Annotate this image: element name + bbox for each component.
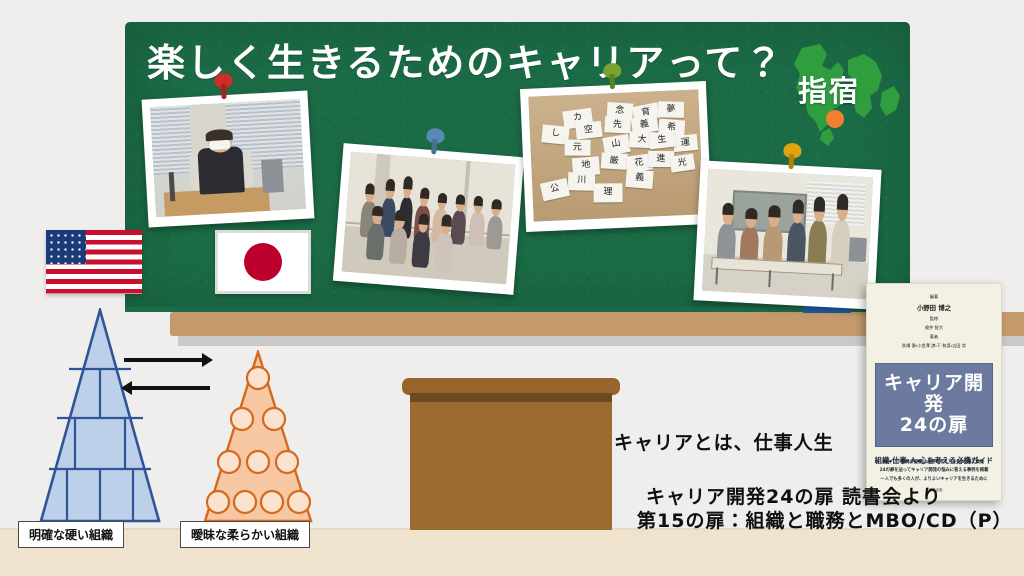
book-cover[interactable]: 編著 小野田 博之 監修 楡井 智大 著者 秋場 徹・小金澤 諒・下 和度・吉田… [866,283,1002,501]
label-rigid-organization: 明確な硬い組織 [18,521,124,548]
pushpin-red-icon [214,73,233,100]
photo-kanji-cards-image: カ 念 育 夢 し 空 先 義 希 運 元 山 大 生 地 厳 川 花 進 光 … [528,89,703,221]
board-title: 楽しく生きるためのキャリアって？ [147,32,784,87]
flag-usa [46,230,142,294]
kanji-card: 川 [567,172,595,190]
kanji-card: 生 [649,131,676,150]
flag-japan [215,230,311,294]
book-authors: 編著 小野田 博之 監修 楡井 智大 著者 秋場 徹・小金澤 諒・下 和度・吉田… [867,293,1001,351]
book-blurb-line1: キャリア開発の実務に必要な考え方を24の扉に集約 [867,459,1001,467]
book-author-role2: 監修 [867,315,1001,324]
pyramid-flexible-organization [187,350,329,523]
book-author-name3: 秋場 徹・小金澤 諒・下 和度・吉田 崇 [867,342,1001,351]
arrow-right-icon [124,358,204,362]
location-marker [826,110,844,128]
usa-canton [46,230,86,264]
book-blurb: キャリア開発の実務に必要な考え方を24の扉に集約 24の扉を辿ってキャリア開発の… [867,459,1001,484]
photo-speaker[interactable] [142,90,315,227]
label-flexible-organization: 曖昧な柔らかい組織 [180,521,310,548]
photo-group[interactable] [333,143,524,295]
caption-sub-1: キャリア開発24の扉 読書会より [646,482,942,509]
japan-sun-disc [244,243,282,281]
kanji-card: 厳 [600,152,626,170]
podium [402,378,620,530]
photo-speaker-image [150,99,306,217]
book-title-box: キャリア開発 24の扉 [875,363,993,448]
usa-stars [46,230,86,264]
pyramid-rigid-organization [25,308,175,523]
kanji-card: 義 [625,168,653,188]
pushpin-green-icon [603,63,622,90]
book-author-role1: 編著 [867,293,1001,302]
book-author-name2: 楡井 智大 [867,324,1001,333]
map-label: 指宿 [798,68,860,110]
caption-main: キャリアとは、仕事人生 [614,428,834,455]
book-title-line1: キャリア開発 [878,373,990,416]
kanji-card: 運 [673,134,698,152]
pushpin-blue-icon [425,128,445,155]
photo-kanji-cards[interactable]: カ 念 育 夢 し 空 先 義 希 運 元 山 大 生 地 厳 川 花 進 光 … [520,81,712,232]
slide-canvas: 楽しく生きるためのキャリアって？ 指宿 [0,0,1024,576]
book-blurb-line2: 24の扉を辿ってキャリア開発の悩みに答える事例を掲載 [867,467,1001,475]
pushpin-yellow-icon [782,143,801,170]
podium-body [410,402,612,530]
kanji-card: 元 [565,140,591,156]
kagoshima-map: 指宿 [786,40,904,155]
book-title-line2: 24の扉 [878,415,990,436]
kanji-card: 理 [594,183,623,202]
book-author-name1: 小野田 博之 [867,302,1001,315]
kanji-card: 夢 [658,101,684,118]
kanji-card: 先 [604,116,630,133]
kanji-card: 空 [575,120,602,139]
book-author-role3: 著者 [867,333,1001,342]
arrow-left-icon [130,386,210,390]
photo-classroom-image [702,169,873,299]
caption-sub-2: 第15の扉：組織と職務とMBO/CD（P） [637,506,1013,533]
photo-group-image [342,152,516,285]
photo-classroom[interactable] [693,160,881,309]
floor [0,528,1024,576]
